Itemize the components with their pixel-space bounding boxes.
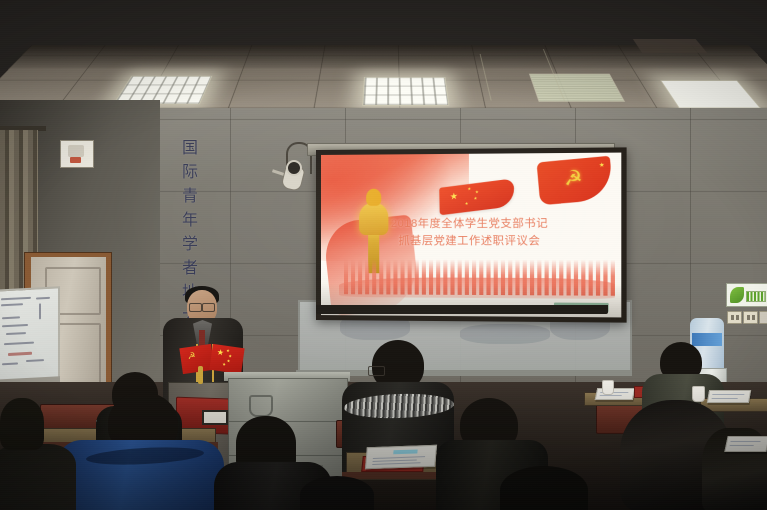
flag-star-big: ★	[216, 349, 224, 358]
exit-sign-red-bar	[70, 157, 81, 163]
wall-banner-vertical: 国 际 青 年 学 者 地 大 论 坛	[172, 134, 208, 286]
slide-party-flag-icon: ☭ ★	[537, 156, 614, 205]
exit-sign	[60, 140, 94, 168]
audience-foreground-left-dark	[0, 444, 76, 510]
slide-title-line-1: 2018年度全体学生党支部书记	[321, 215, 621, 233]
slide-flag-star-b: ★	[475, 190, 479, 195]
classroom-photo-scene: 国 际 青 年 学 者 地 大 论 坛 ★ ★	[0, 0, 767, 510]
ceiling-light-2	[362, 77, 449, 106]
documents-center	[365, 445, 437, 469]
papers-right-back	[595, 388, 636, 400]
energy-saving-sign	[726, 283, 767, 307]
water-bottle-label	[692, 333, 722, 346]
slide-party-star: ★	[599, 163, 605, 170]
slide: ★ ★ ★ ★ ★ ☭ ★ 2018年度全体学生党支部书记 抓基层党建工作述职评…	[321, 153, 621, 318]
presenter-glasses-right	[202, 303, 215, 312]
banner-char-3: 年	[182, 206, 198, 230]
banner-char-5: 者	[182, 254, 198, 278]
banner-char-4: 学	[182, 230, 198, 254]
slide-city-skyline-silhouette	[344, 259, 615, 296]
projector-screen-bottom-bar	[316, 305, 608, 314]
audience-head-foreground-center	[500, 466, 588, 510]
power-outlet-2[interactable]	[743, 311, 758, 324]
projector-screen-surface: ★ ★ ★ ★ ★ ☭ ★ 2018年度全体学生党支部书记 抓基层党建工作述职评…	[321, 153, 621, 318]
flag-star-c: ★	[226, 359, 230, 363]
cup-right	[602, 380, 614, 395]
slide-flag-star-c: ★	[473, 196, 477, 201]
wall-plate-blank	[759, 311, 767, 324]
papers-right-front	[724, 436, 767, 452]
projector-screen: ★ ★ ★ ★ ★ ☭ ★ 2018年度全体学生党支部书记 抓基层党建工作述职评…	[316, 147, 627, 322]
slide-flag-star-a: ★	[467, 186, 471, 191]
camera-lens-icon	[286, 160, 302, 176]
podium-name-plate	[202, 410, 228, 425]
banner-char-0: 国	[182, 134, 198, 158]
audience-head-foreground-right	[300, 476, 374, 510]
audience-foreground-left-head	[0, 398, 44, 450]
exit-sign-pictogram	[68, 145, 84, 157]
slide-flag-star-d: ★	[465, 201, 469, 206]
banner-char-2: 青	[182, 182, 198, 206]
slide-flag-star-big: ★	[450, 191, 458, 201]
podium-microphone[interactable]	[198, 366, 203, 384]
audience-glasses-fur	[368, 366, 385, 376]
banner-char-1: 际	[182, 158, 198, 182]
flag-star-d: ★	[222, 362, 226, 366]
presenter-glasses-left	[189, 303, 202, 312]
cabinet-logo-icon	[249, 395, 273, 417]
slide-title-block: 2018年度全体学生党支部书记 抓基层党建工作述职评议会	[321, 215, 621, 250]
whiteboard-left	[0, 286, 60, 389]
slide-title-line-2: 抓基层党建工作述职评议会	[321, 233, 621, 251]
papers-right-mid	[707, 390, 751, 403]
desk-flag-national: ★ ★ ★ ★ ★	[209, 344, 244, 374]
hammer-sickle-icon: ☭	[187, 351, 196, 361]
leaf-icon	[730, 287, 744, 303]
cup-right-mid	[692, 386, 705, 402]
slide-hammer-sickle-icon: ☭	[554, 167, 594, 194]
ceiling-vent	[633, 39, 708, 53]
power-outlet-1[interactable]	[727, 311, 742, 324]
sign-bars-icon	[746, 291, 766, 302]
ceiling-light-3-dim	[529, 74, 625, 102]
